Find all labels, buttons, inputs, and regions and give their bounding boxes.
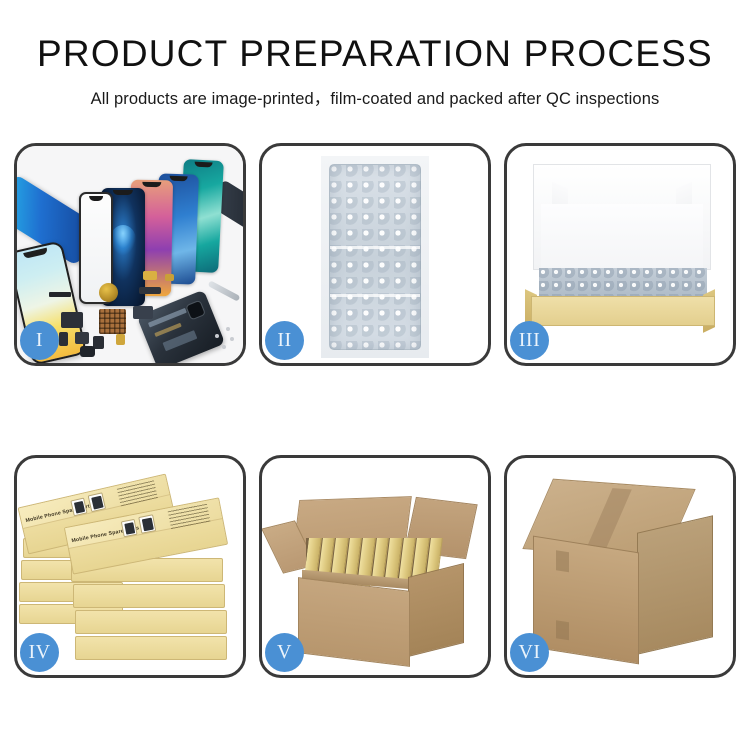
board-strip (162, 330, 197, 351)
process-step-grid: I II (14, 143, 736, 678)
process-step-panel-3: III (504, 143, 736, 366)
phone-graphic (70, 498, 87, 517)
copper-coil-part (99, 283, 118, 302)
phone-graphic (121, 519, 138, 537)
carton-side-face (637, 515, 713, 655)
phone-graphic (138, 514, 156, 534)
white-foam-insert (541, 204, 703, 270)
step-badge-3: III (510, 321, 549, 360)
carton-front-face (298, 577, 410, 667)
flex-cable-part (75, 332, 89, 344)
step-badge-1: I (20, 321, 59, 360)
notch-icon (23, 248, 48, 259)
ic-chip-grid-part (99, 309, 126, 334)
process-step-panel-6: VI (504, 455, 736, 678)
flex-cable-part (61, 312, 83, 328)
flex-cable-part (80, 346, 95, 357)
notch-icon (194, 162, 213, 168)
screw-part (215, 334, 219, 338)
carton-front-face (533, 536, 639, 665)
camera-module-icon (185, 300, 206, 321)
flex-cable-part (139, 287, 161, 294)
gold-connector-part (143, 271, 157, 280)
screw-part (230, 337, 234, 341)
carton-side-face (408, 563, 464, 657)
screw-part (226, 327, 230, 331)
packing-tape-strip (585, 488, 632, 552)
speaker-bar-part (49, 292, 71, 297)
notch-icon (89, 196, 103, 201)
box-spec-lines (167, 502, 210, 529)
process-step-panel-2: II (259, 143, 491, 366)
board-strip (154, 323, 181, 337)
step-badge-4: IV (20, 633, 59, 672)
notch-icon (169, 176, 188, 182)
kraft-box-front (531, 296, 715, 326)
notch-icon (113, 190, 133, 195)
flex-cable-part (59, 332, 68, 346)
step-badge-5: V (265, 633, 304, 672)
phone-graphic (88, 492, 106, 512)
jellyfish-wallpaper (110, 225, 136, 255)
bubble-wrapped-contents (539, 268, 707, 298)
carton-seam (556, 620, 569, 640)
process-step-panel-1: I (14, 143, 246, 366)
box-spec-lines (116, 478, 158, 506)
step-badge-2: II (265, 321, 304, 360)
gold-connector-part (165, 274, 174, 281)
carton-seam (556, 550, 569, 572)
flex-cable-part (133, 306, 153, 319)
screw-part (222, 345, 226, 349)
process-step-panel-4: Mobile Phone Spare Parts Mobile Phone Sp… (14, 455, 246, 678)
product-preparation-infographic: PRODUCT PREPARATION PROCESS All products… (0, 0, 750, 750)
stacked-box (75, 610, 227, 634)
bubble-wrap-seam (330, 246, 420, 249)
stacked-box (75, 636, 227, 660)
process-step-panel-5: V (259, 455, 491, 678)
page-subtitle: All products are image-printed，film-coat… (0, 85, 750, 109)
gold-connector-part (116, 334, 125, 345)
stacked-box (73, 584, 225, 608)
step-badge-6: VI (510, 633, 549, 672)
bubble-wrap-pouch (329, 164, 421, 350)
notch-icon (142, 182, 161, 187)
header: PRODUCT PREPARATION PROCESS All products… (0, 0, 750, 109)
bubble-wrap-seam (330, 294, 420, 297)
page-title: PRODUCT PREPARATION PROCESS (0, 33, 750, 76)
